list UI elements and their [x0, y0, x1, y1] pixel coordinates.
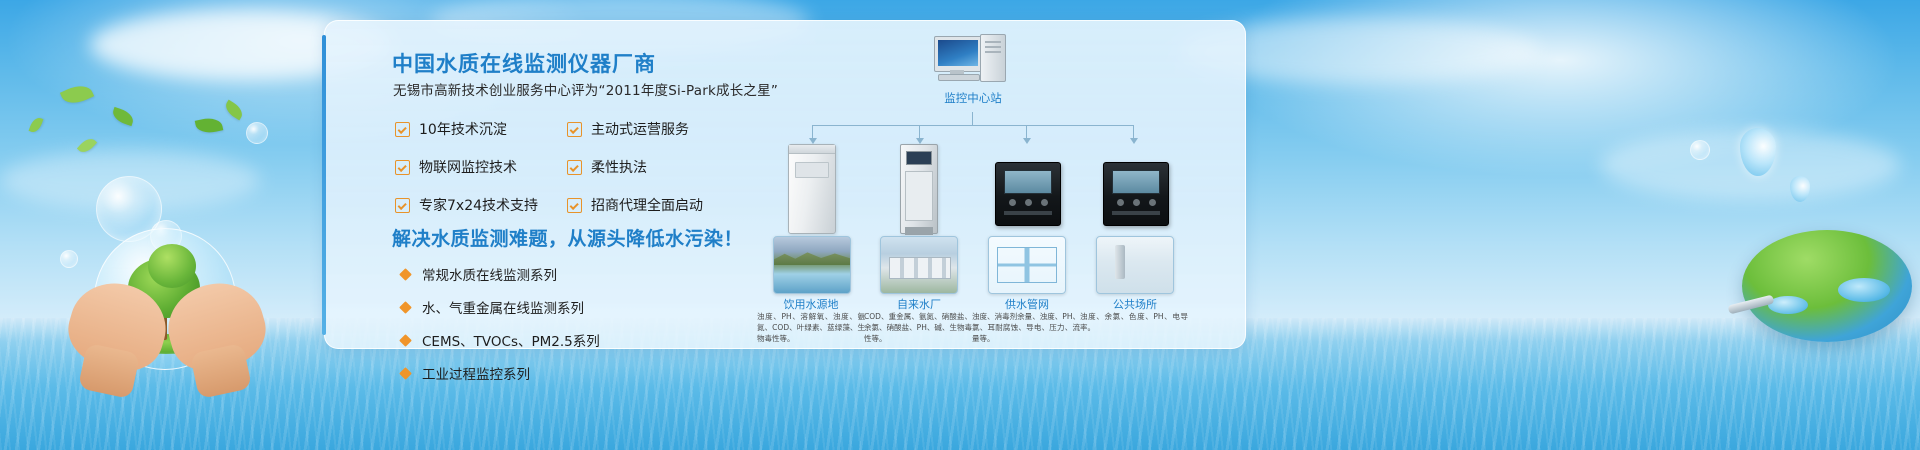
- list-item-label: 工业过程监控系列: [422, 363, 530, 383]
- device-controller-2: [1103, 162, 1169, 226]
- connector-horizontal: [812, 125, 1134, 126]
- scene-caption: 自来水厂: [864, 296, 974, 312]
- connector-drop: [1133, 125, 1134, 139]
- earth-lake: [1838, 278, 1890, 302]
- checkbox-checked-icon: [567, 198, 582, 213]
- scene-description: 浊度、余氯、色度、PH、电导率。: [1080, 312, 1188, 334]
- diamond-bullet-icon: [399, 367, 412, 380]
- scene-caption: 供水管网: [972, 296, 1082, 312]
- checklist-item: 柔性执法: [567, 157, 647, 177]
- list-item-label: CEMS、TVOCs、PM2.5系列: [422, 330, 600, 350]
- device-row: [760, 144, 1180, 236]
- monitor: [934, 36, 982, 72]
- hands-holding-tree-illustration: [70, 222, 260, 372]
- controller-body: [1103, 162, 1169, 226]
- page-subtitle: 无锡市高新技术创业服务中心评为“2011年度Si-Park成长之星”: [393, 79, 778, 99]
- device-analyzer-cabinet: [788, 144, 836, 234]
- device-analyzer-rack: [900, 144, 938, 234]
- earth-lake: [1768, 296, 1808, 314]
- page-title: 中国水质在线监测仪器厂商: [392, 48, 656, 78]
- rack-foot: [905, 227, 933, 235]
- diamond-bullet-icon: [399, 334, 412, 347]
- controller-lcd: [1112, 170, 1160, 194]
- bubble: [246, 122, 268, 144]
- list-item: CEMS、TVOCs、PM2.5系列: [401, 330, 600, 350]
- connector-drop: [812, 125, 813, 139]
- scene-photo-water-plant: [880, 236, 958, 294]
- checklist-item-label: 主动式运营服务: [591, 119, 689, 139]
- checklist-item: 主动式运营服务: [567, 119, 689, 139]
- monitor-base: [938, 74, 980, 81]
- list-item-label: 常规水质在线监测系列: [422, 264, 557, 284]
- connector-drop: [919, 125, 920, 139]
- controller-strip: [1004, 211, 1052, 215]
- scene-caption: 公共场所: [1080, 296, 1190, 312]
- checkbox-checked-icon: [567, 160, 582, 175]
- bubble: [1690, 140, 1710, 160]
- scene-photo-drinking-water-source: [773, 236, 851, 294]
- checkbox-checked-icon: [395, 122, 410, 137]
- controller-lcd: [1004, 170, 1052, 194]
- tree-foliage: [148, 244, 196, 288]
- scene-photo-water-supply-network: [988, 236, 1066, 294]
- checklist-item-label: 专家7x24技术支持: [419, 195, 538, 215]
- section-headline: 解决水质监测难题，从源头降低水污染！: [392, 224, 743, 251]
- connector-drop: [1026, 125, 1027, 139]
- controller-body: [995, 162, 1061, 226]
- green-earth-illustration: [1742, 230, 1912, 350]
- checklist-item-label: 招商代理全面启动: [591, 195, 703, 215]
- controller-buttons: [1104, 199, 1168, 206]
- list-item: 水、气重金属在线监测系列: [401, 297, 600, 317]
- scene-description: COD、重金属、氨氮、硝酸盐、余氯、硝酸盐、PH、碱、生物毒性等。: [864, 312, 972, 345]
- product-list: 常规水质在线监测系列 水、气重金属在线监测系列 CEMS、TVOCs、PM2.5…: [401, 264, 600, 396]
- diamond-bullet-icon: [399, 301, 412, 314]
- checkbox-checked-icon: [395, 160, 410, 175]
- cabinet-body: [788, 144, 836, 234]
- rack-screen: [906, 151, 932, 165]
- checklist-item: 10年技术沉淀: [395, 119, 567, 139]
- monitor-screen: [938, 40, 978, 66]
- scene-description: 浊度、PH、溶解氧、浊度、氨氮、COD、叶绿素、蓝绿藻、生物毒性等。: [757, 312, 865, 345]
- list-item: 常规水质在线监测系列: [401, 264, 600, 284]
- rack-body: [900, 144, 938, 234]
- controller-strip: [1112, 211, 1160, 215]
- banner-stage: 中国水质在线监测仪器厂商 无锡市高新技术创业服务中心评为“2011年度Si-Pa…: [0, 0, 1920, 450]
- scene-caption: 饮用水源地: [756, 296, 866, 312]
- checklist-item: 物联网监控技术: [395, 157, 567, 177]
- connector-vertical: [972, 112, 973, 126]
- system-diagram: 监控中心站: [760, 26, 1180, 346]
- application-scenes: 饮用水源地 浊度、PH、溶解氧、浊度、氨氮、COD、叶绿素、蓝绿藻、生物毒性等。…: [760, 236, 1180, 346]
- scene-photo-public-place: [1096, 236, 1174, 294]
- rack-door: [905, 171, 933, 221]
- hub-label: 监控中心站: [908, 90, 1038, 106]
- list-item: 工业过程监控系列: [401, 363, 600, 383]
- cabinet-top: [789, 145, 835, 154]
- checklist-item-label: 物联网监控技术: [419, 157, 517, 177]
- cabinet-panel: [795, 162, 829, 178]
- pc-tower: [980, 34, 1006, 82]
- computer-icon: [934, 36, 1006, 86]
- list-item-label: 水、气重金属在线监测系列: [422, 297, 584, 317]
- scene-description: 浊度、消毒剂余量、浊度、PH、氯、耳耐腐蚀、导电、压力、流量等。: [972, 312, 1080, 345]
- checklist-item-label: 柔性执法: [591, 157, 647, 177]
- checkbox-checked-icon: [395, 198, 410, 213]
- diamond-bullet-icon: [399, 268, 412, 281]
- controller-buttons: [996, 199, 1060, 206]
- checklist-item: 专家7x24技术支持: [395, 195, 567, 215]
- checkbox-checked-icon: [567, 122, 582, 137]
- checklist-item: 招商代理全面启动: [567, 195, 703, 215]
- checklist-item-label: 10年技术沉淀: [419, 119, 507, 139]
- device-controller-1: [995, 162, 1061, 226]
- connector-lines: [760, 112, 1180, 146]
